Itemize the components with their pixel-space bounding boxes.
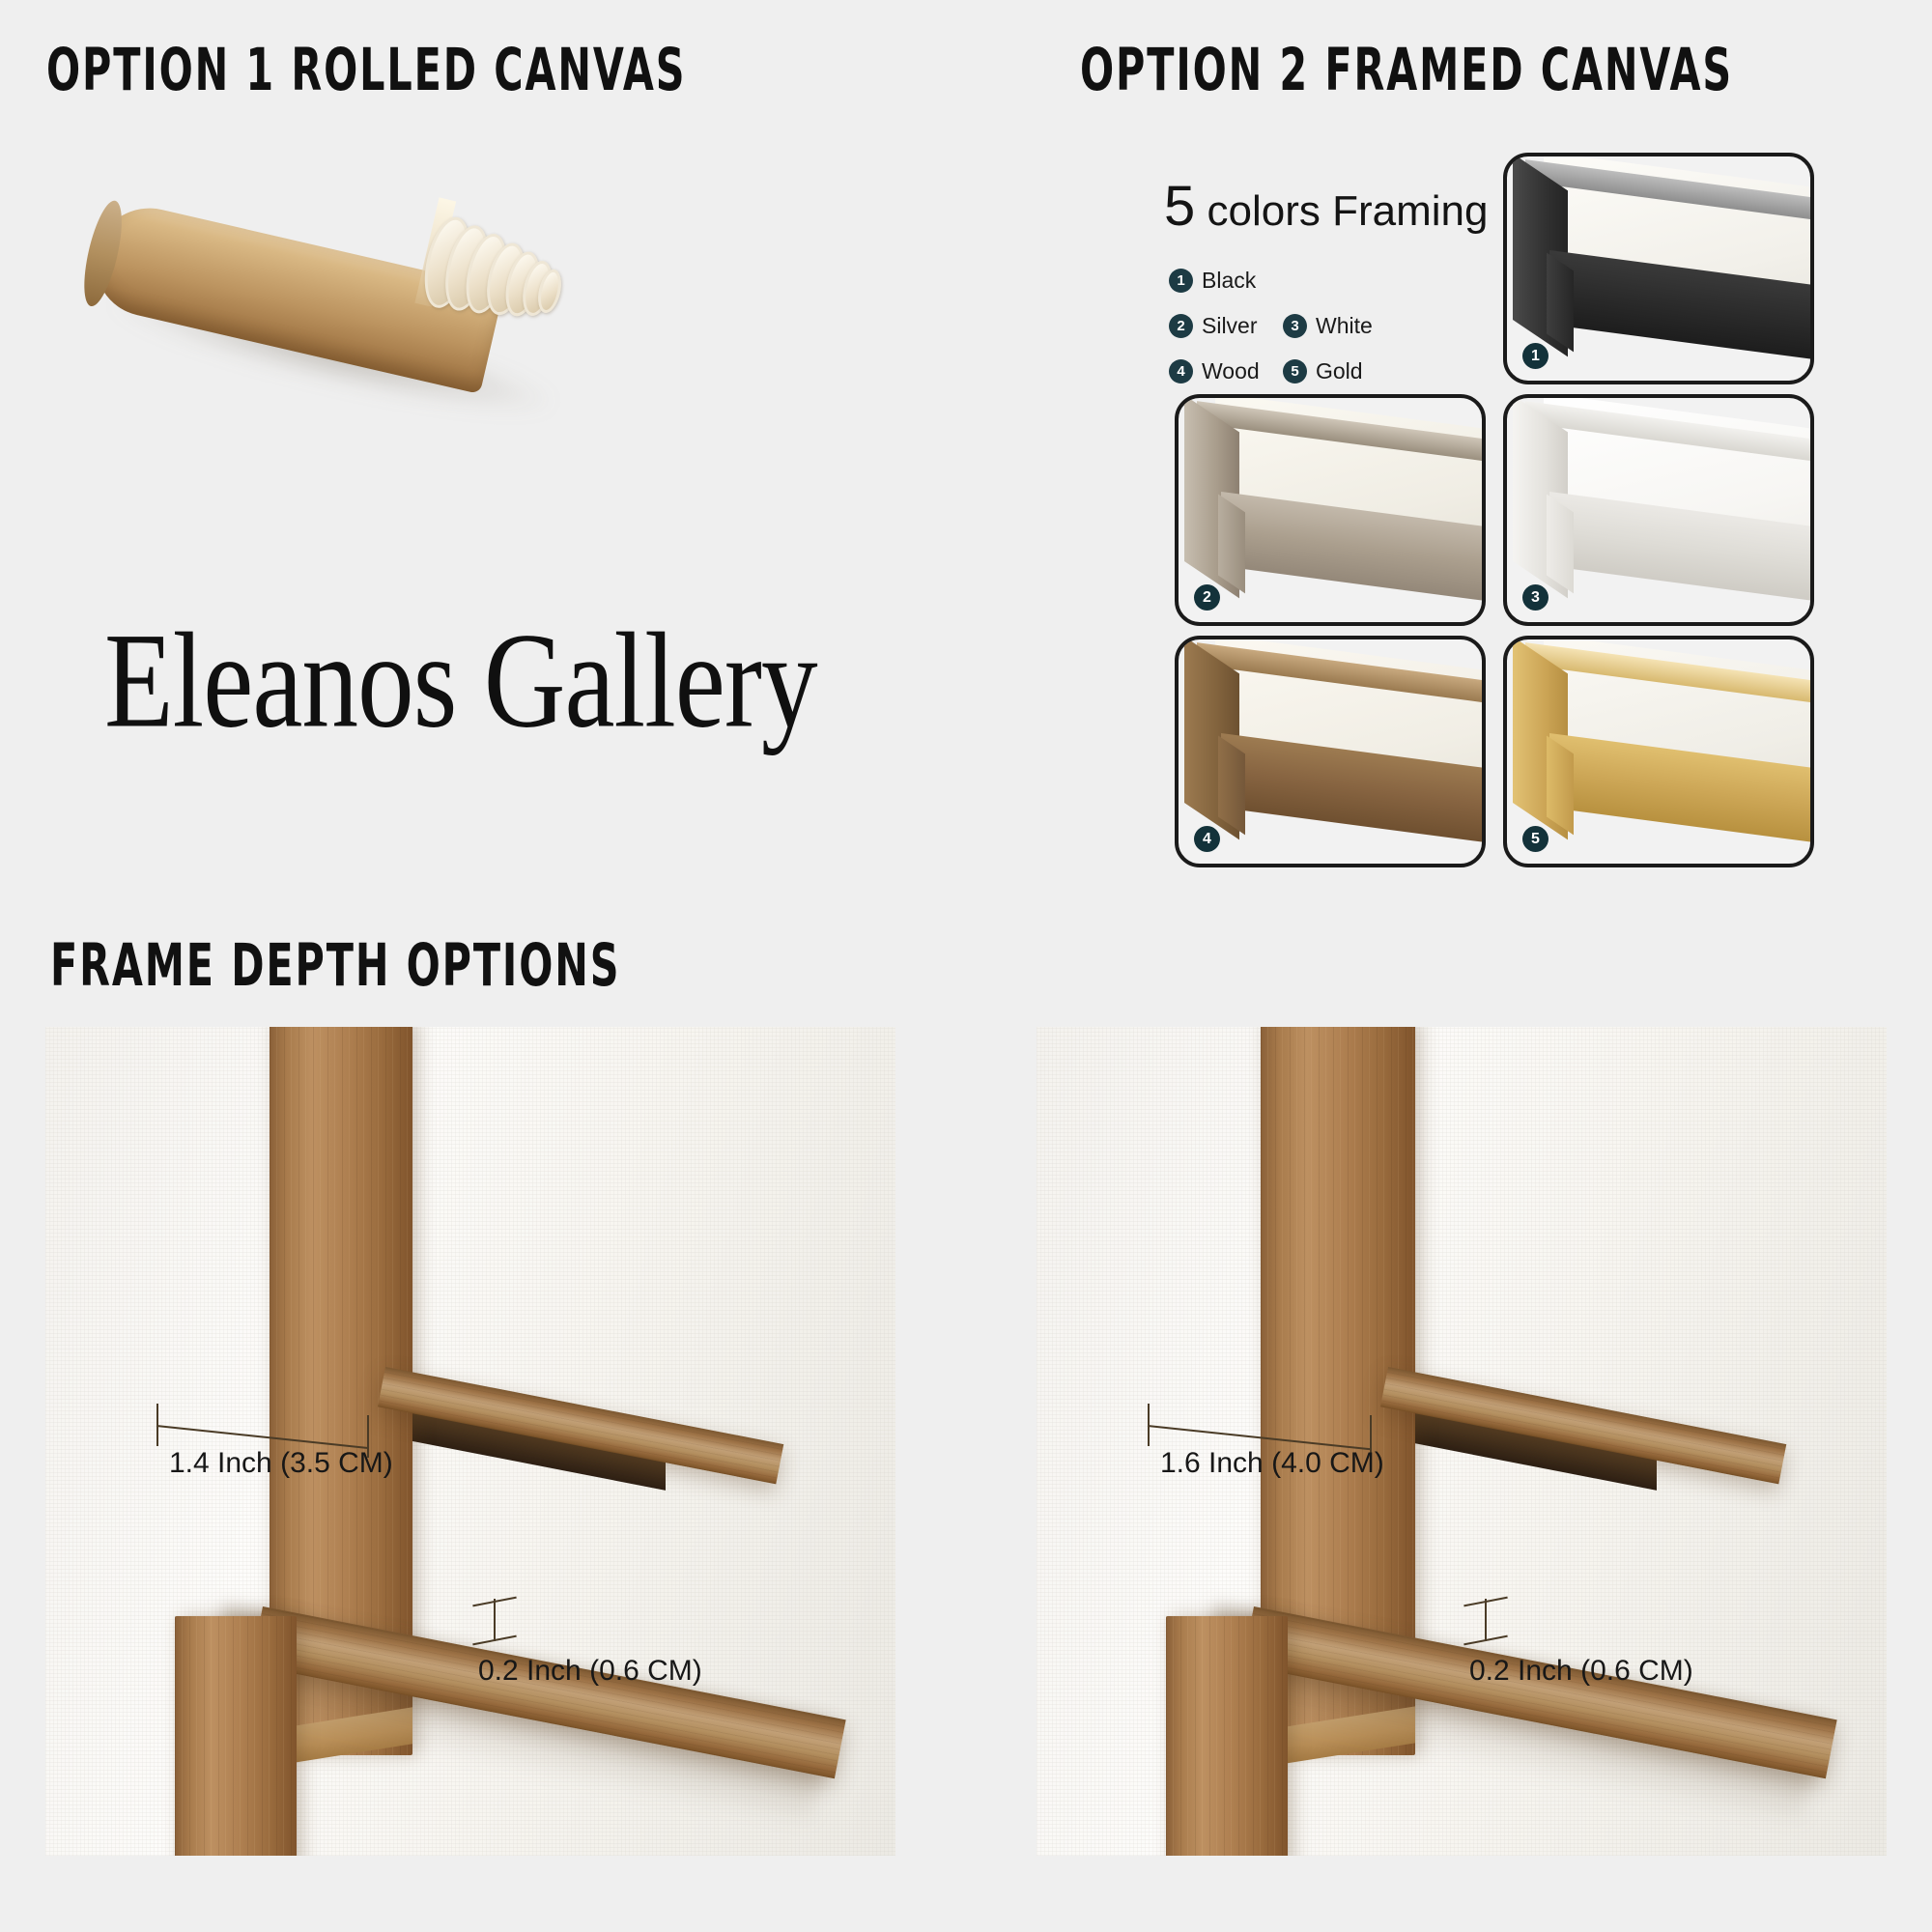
badge-5-icon: 5 (1283, 359, 1307, 384)
legend-label-gold: Gold (1316, 358, 1363, 384)
swatch-number-4: 4 (1194, 826, 1220, 852)
depth-label-right: 1.6 Inch (4.0 CM) (1160, 1447, 1384, 1480)
legend-label-silver: Silver (1202, 313, 1258, 339)
depth-dimension-line-left (156, 1404, 369, 1446)
badge-2-icon: 2 (1169, 314, 1193, 338)
option-1-title: OPTION 1 ROLLED CANVAS (46, 37, 686, 104)
frame-photo-wood (1179, 639, 1482, 864)
badge-4-icon: 4 (1169, 359, 1193, 384)
brand-logo-text: Eleanos Gallery (104, 604, 817, 759)
frame-photo-white (1507, 398, 1810, 622)
swatch-number-2: 2 (1194, 584, 1220, 611)
legend-item-black: 1 Black (1169, 268, 1283, 294)
legend-row: 2 Silver 3 White (1169, 313, 1420, 339)
legend-label-black: Black (1202, 268, 1256, 294)
framing-color-legend: 1 Black 2 Silver 3 White 4 Wood 5 Gold (1169, 268, 1420, 404)
legend-item-wood: 4 Wood (1169, 358, 1283, 384)
legend-row: 1 Black (1169, 268, 1420, 294)
frame-photo-black (1507, 156, 1810, 381)
badge-3-icon: 3 (1283, 314, 1307, 338)
framing-count: 5 (1164, 175, 1195, 238)
depth-photo-right: 1.6 Inch (4.0 CM) 0.2 Inch (0.6 CM) (1037, 1027, 1887, 1856)
thickness-label-left: 0.2 Inch (0.6 CM) (478, 1655, 702, 1688)
frame-swatch-wood[interactable]: 4 (1175, 636, 1486, 867)
depth-label-left: 1.4 Inch (3.5 CM) (169, 1447, 393, 1480)
thickness-dimension-line-left (470, 1599, 519, 1645)
framing-heading-rest: colors Framing (1207, 187, 1489, 235)
frame-depth-title: FRAME DEPTH OPTIONS (50, 932, 620, 1000)
depth-dimension-line-right (1148, 1404, 1372, 1446)
option-2-title: OPTION 2 FRAMED CANVAS (1080, 37, 1733, 104)
thickness-label-right: 0.2 Inch (0.6 CM) (1469, 1655, 1693, 1688)
frame-swatch-white[interactable]: 3 (1503, 394, 1814, 626)
swatch-number-5: 5 (1522, 826, 1548, 852)
badge-1-icon: 1 (1169, 269, 1193, 293)
thickness-dimension-line-right (1462, 1599, 1510, 1645)
legend-label-wood: Wood (1202, 358, 1260, 384)
swatch-number-1: 1 (1522, 343, 1548, 369)
depth-photo-left: 1.4 Inch (3.5 CM) 0.2 Inch (0.6 CM) (45, 1027, 895, 1856)
legend-row: 4 Wood 5 Gold (1169, 358, 1420, 384)
rolled-canvas-tube-image (87, 179, 628, 430)
frame-swatch-silver[interactable]: 2 (1175, 394, 1486, 626)
legend-label-white: White (1316, 313, 1373, 339)
framing-heading: 5 colors Framing (1164, 174, 1488, 239)
frame-photo-silver (1179, 398, 1482, 622)
frame-swatch-gold[interactable]: 5 (1503, 636, 1814, 867)
product-infographic: OPTION 1 ROLLED CANVAS Eleanos Gallery O… (0, 0, 1932, 1932)
legend-item-white: 3 White (1283, 313, 1397, 339)
frame-photo-gold (1507, 639, 1810, 864)
legend-item-gold: 5 Gold (1283, 358, 1397, 384)
frame-swatch-black[interactable]: 1 (1503, 153, 1814, 384)
swatch-number-3: 3 (1522, 584, 1548, 611)
legend-item-silver: 2 Silver (1169, 313, 1283, 339)
